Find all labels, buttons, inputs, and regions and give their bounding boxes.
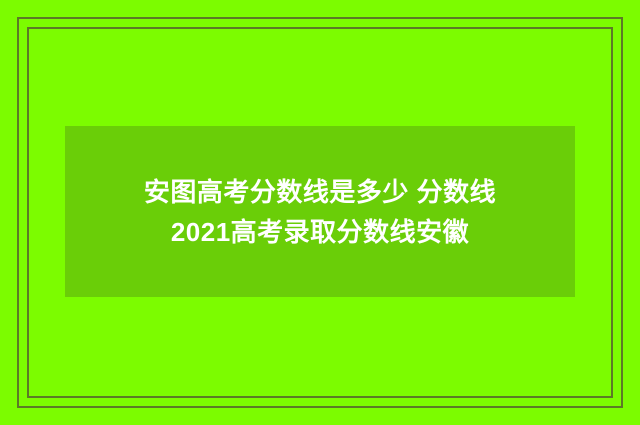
headline-line-2: 2021高考录取分数线安徽 <box>171 212 469 252</box>
headline-panel: 安图高考分数线是多少 分数线 2021高考录取分数线安徽 <box>65 126 575 297</box>
headline-line-1: 安图高考分数线是多少 分数线 <box>144 172 496 212</box>
banner-image: 安图高考分数线是多少 分数线 2021高考录取分数线安徽 <box>0 0 640 425</box>
